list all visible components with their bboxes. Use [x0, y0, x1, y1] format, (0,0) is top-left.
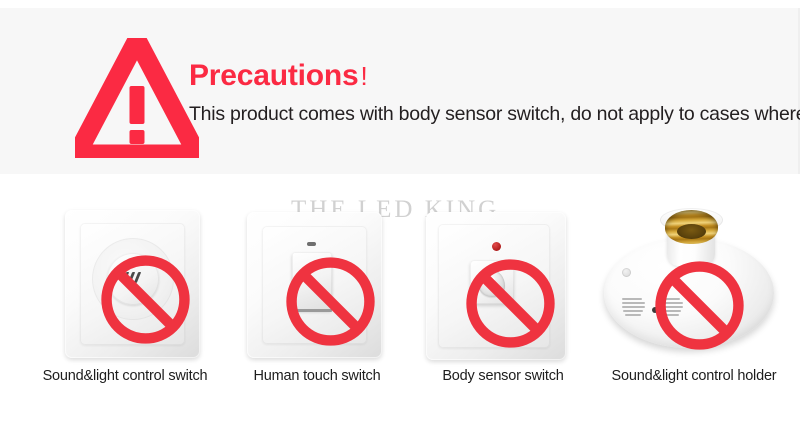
- prohibition-icon: [463, 256, 558, 351]
- speaker-grille-left: [622, 298, 648, 316]
- prohibition-icon: [283, 254, 378, 349]
- warning-triangle-icon: [75, 38, 199, 158]
- product-human-touch-switch: Human touch switch: [222, 190, 412, 405]
- product-label: Body sensor switch: [408, 368, 598, 384]
- product-body-sensor-switch: Body sensor switch: [408, 190, 598, 405]
- product-label: Human touch switch: [222, 368, 412, 384]
- status-led: [492, 242, 501, 251]
- product-sound-light-control-switch: Sound&light control switch: [30, 190, 220, 405]
- product-image-human-touch-switch: [222, 190, 412, 370]
- product-image-body-sensor-switch: [408, 190, 598, 370]
- product-label: Sound&light control switch: [30, 368, 220, 384]
- product-sound-light-control-holder: Sound&light control holder: [594, 190, 794, 405]
- page-subtitle: This product comes with body sensor swit…: [189, 103, 800, 126]
- page-title-exclamation: !: [359, 61, 368, 91]
- socket-hole: [677, 224, 707, 240]
- product-label: Sound&light control holder: [594, 368, 794, 384]
- side-sensor-dot: [622, 268, 631, 277]
- prohibition-icon: [652, 258, 747, 353]
- precautions-infographic: Precautions! This product comes with bod…: [0, 0, 800, 430]
- prohibition-icon: [98, 252, 193, 347]
- e27-socket-threads: [665, 210, 718, 244]
- product-image-sound-light-control-holder: [594, 190, 794, 370]
- indicator-slot: [307, 242, 316, 246]
- page-title-text: Precautions: [189, 59, 359, 92]
- page-title: Precautions!: [189, 59, 368, 93]
- product-image-sound-light-control-switch: [30, 190, 220, 370]
